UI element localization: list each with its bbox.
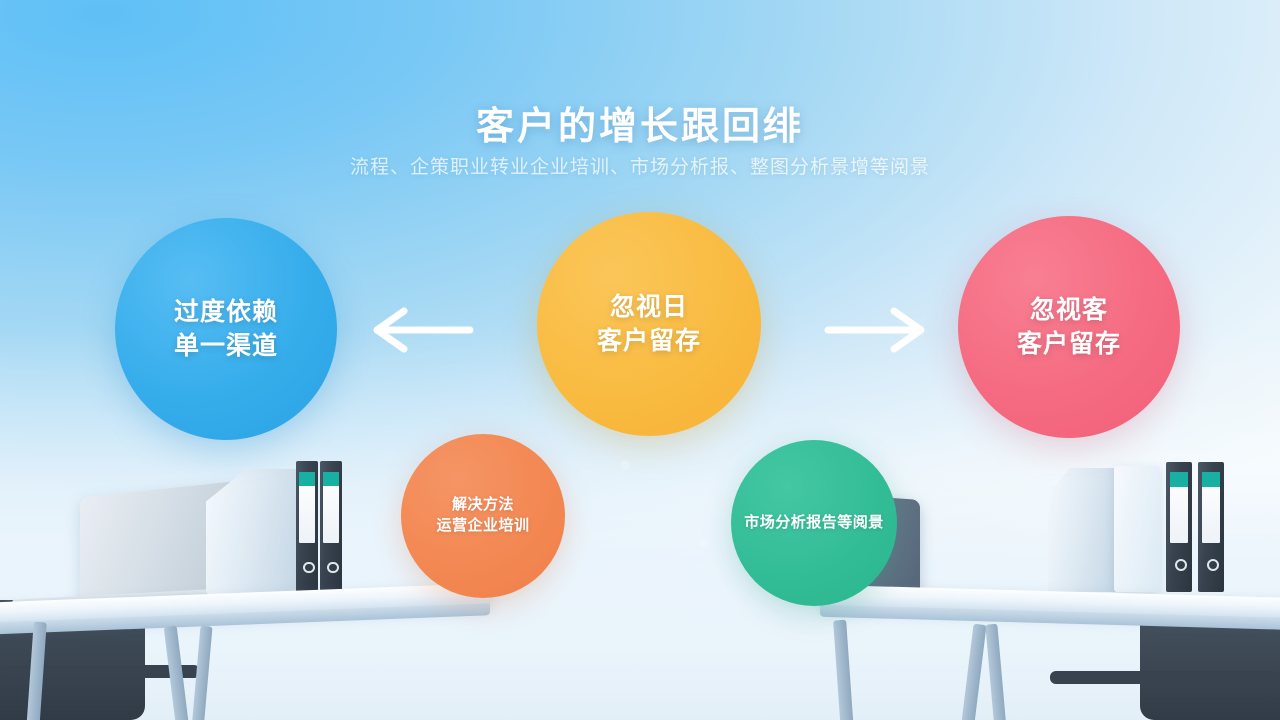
- node-line: 客户留存: [597, 324, 701, 359]
- node-line: 忽视客: [1030, 293, 1108, 328]
- node-line: 过度依赖: [174, 295, 278, 330]
- node-line: 客户留存: [1017, 327, 1121, 362]
- page-subtitle: 流程、企策职业转业企业培训、市场分析报、整图分析景增等阅景: [0, 152, 1280, 179]
- bokeh-dot: [620, 460, 630, 470]
- page-title: 客户的增长跟回绯: [0, 95, 1280, 150]
- node-overreliance[interactable]: 过度依赖 单一渠道: [115, 218, 337, 440]
- node-market-report[interactable]: 市场分析报告等阅景: [731, 440, 897, 606]
- node-line: 解决方法: [452, 495, 514, 516]
- slide-canvas: 客户的增长跟回绯 流程、企策职业转业企业培训、市场分析报、整图分析景增等阅景 过…: [0, 0, 1280, 720]
- node-ignore-customer[interactable]: 忽视客 客户留存: [958, 216, 1180, 438]
- node-solution[interactable]: 解决方法 运营企业培训: [401, 434, 565, 598]
- node-line: 运营企业培训: [436, 516, 529, 537]
- node-line: 忽视日: [610, 290, 688, 325]
- floor-gradient: [0, 470, 1280, 720]
- arrow-right-icon: [822, 305, 930, 360]
- node-ignore-daily[interactable]: 忽视日 客户留存: [537, 212, 761, 436]
- node-line: 市场分析报告等阅景: [744, 513, 884, 534]
- arrow-left-icon: [368, 305, 476, 360]
- node-line: 单一渠道: [174, 329, 278, 364]
